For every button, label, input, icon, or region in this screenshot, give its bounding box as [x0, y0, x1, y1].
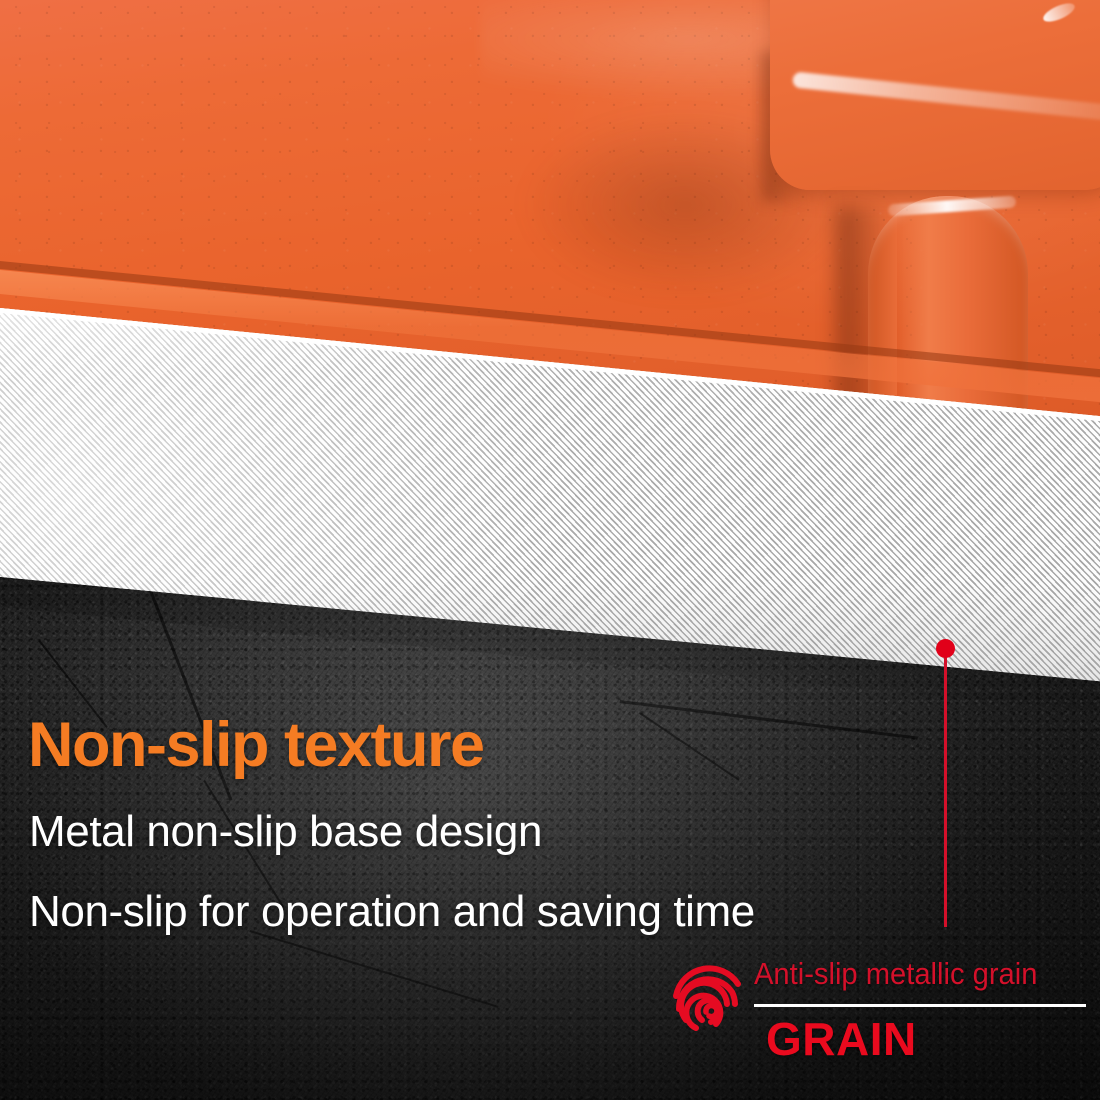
headline: Non-slip texture: [28, 714, 484, 777]
anti-slip-badge: Anti-slip metallic grain GRAIN: [668, 950, 1088, 1065]
subline-primary: Metal non-slip base design: [29, 810, 542, 854]
product-feature-banner: Non-slip texture Metal non-slip base des…: [0, 0, 1100, 1100]
callout-dot: [936, 639, 955, 658]
badge-caption: Anti-slip metallic grain: [754, 958, 1068, 989]
callout-line: [944, 650, 947, 927]
badge-divider: [754, 1004, 1086, 1007]
fingerprint-icon: [672, 962, 744, 1040]
badge-keyword: GRAIN: [766, 1016, 1088, 1062]
subline-secondary: Non-slip for operation and saving time: [29, 890, 755, 934]
badge-text-block: Anti-slip metallic grain GRAIN: [754, 950, 1088, 1062]
